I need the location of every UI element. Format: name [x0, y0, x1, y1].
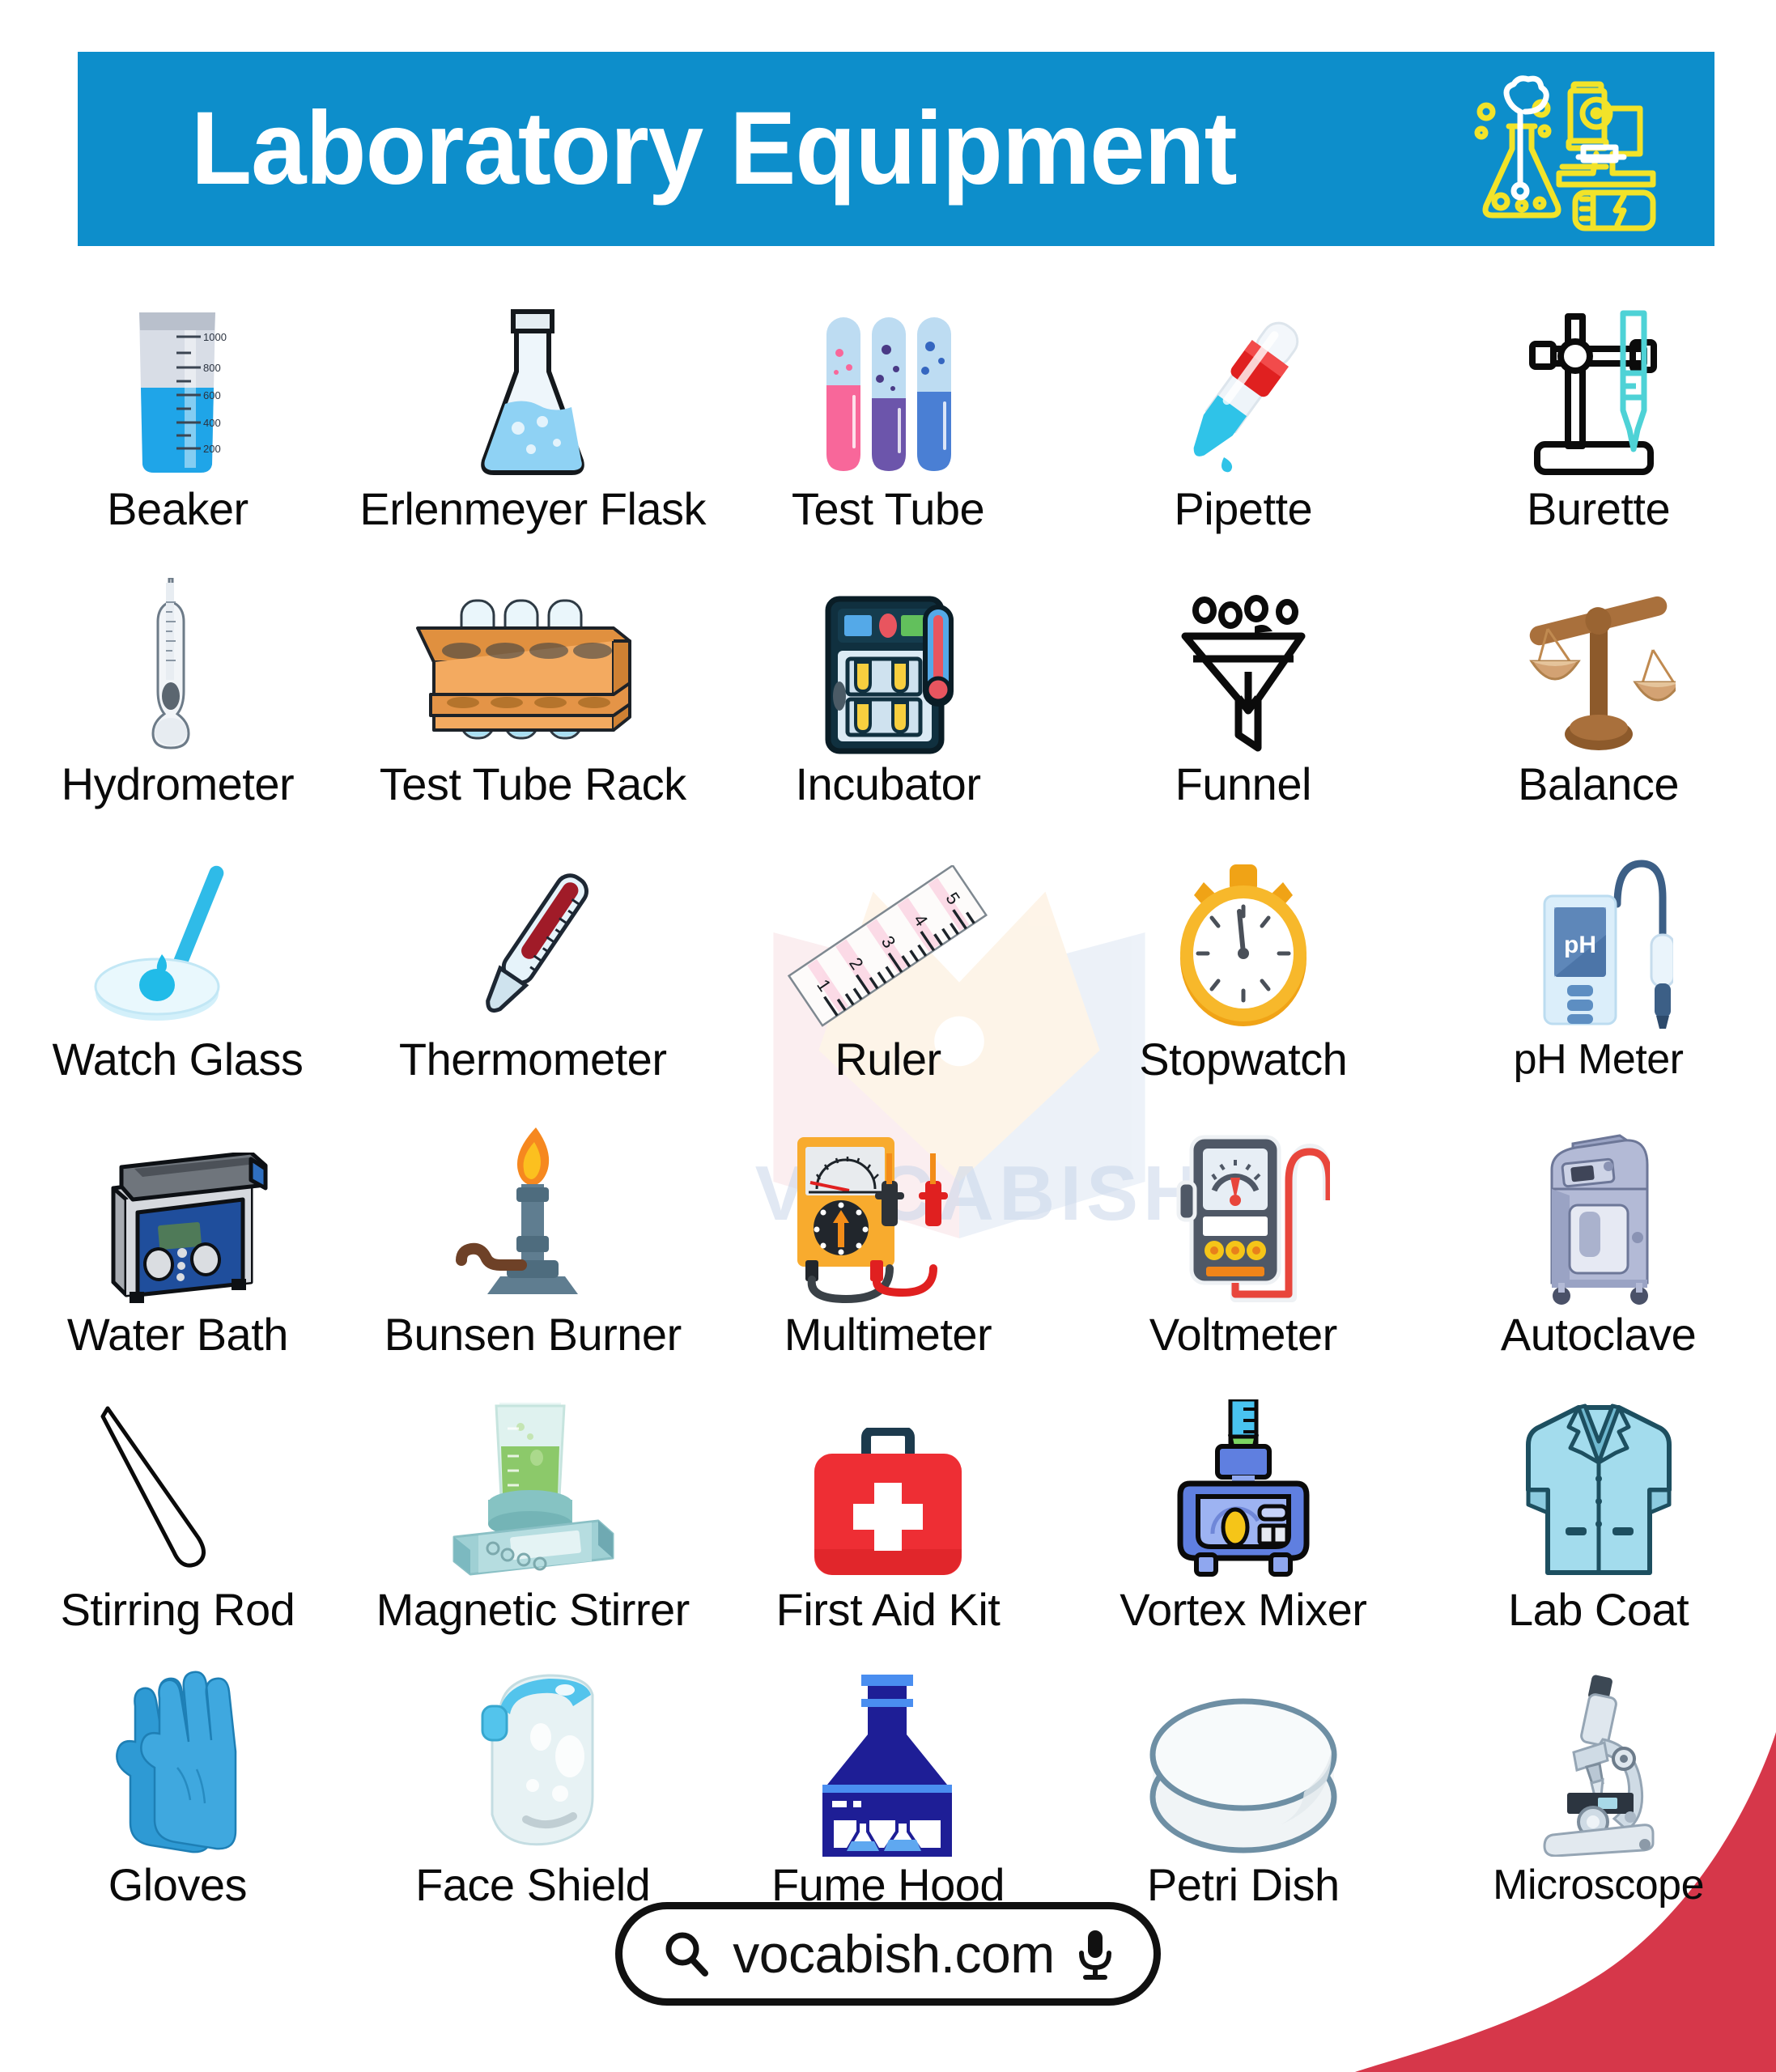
grid-item-voltmeter[interactable]: Voltmeter	[1065, 1085, 1421, 1360]
item-label: Test Tube Rack	[380, 759, 686, 809]
item-label: Vortex Mixer	[1120, 1585, 1366, 1635]
stopwatch-icon	[1065, 845, 1421, 1031]
pipette-icon	[1065, 295, 1421, 481]
item-label: Watch Glass	[52, 1034, 303, 1085]
grid-item-stopwatch[interactable]: Stopwatch	[1065, 809, 1421, 1085]
grid-item-funnel[interactable]: Funnel	[1065, 534, 1421, 809]
first-aid-kit-icon	[711, 1395, 1066, 1582]
item-label: Pipette	[1174, 484, 1312, 534]
page-header: Laboratory Equipment	[78, 52, 1714, 246]
grid-item-fume-hood[interactable]: Fume Hood	[711, 1635, 1066, 1910]
flask-microscope-icon	[1473, 70, 1676, 231]
grid-item-incubator[interactable]: Incubator	[711, 534, 1066, 809]
grid-item-pipette[interactable]: Pipette	[1065, 259, 1421, 534]
svg-text:200: 200	[203, 443, 221, 455]
grid-item-petri-dish[interactable]: Petri Dish	[1065, 1635, 1421, 1910]
item-label: Thermometer	[399, 1034, 667, 1085]
hydrometer-icon	[0, 570, 355, 756]
beaker-icon: 1000800 600400200	[0, 295, 355, 481]
microphone-icon[interactable]	[1076, 1927, 1115, 1981]
item-label: Magnetic Stirrer	[376, 1585, 690, 1635]
grid-item-thermometer[interactable]: Thermometer	[355, 809, 711, 1085]
watch-glass-icon	[0, 845, 355, 1031]
svg-text:400: 400	[203, 417, 221, 429]
microscope-icon	[1421, 1671, 1776, 1857]
item-label: pH Meter	[1514, 1034, 1684, 1085]
lab-coat-icon	[1421, 1395, 1776, 1582]
grid-item-bunsen-burner[interactable]: Bunsen Burner	[355, 1085, 711, 1360]
item-label: Stopwatch	[1139, 1034, 1347, 1085]
funnel-icon	[1065, 570, 1421, 756]
grid-item-stirring-rod[interactable]: Stirring Rod	[0, 1360, 355, 1635]
item-label: Water Bath	[67, 1310, 288, 1360]
item-label: Beaker	[107, 484, 248, 534]
grid-item-gloves[interactable]: Gloves	[0, 1635, 355, 1910]
autoclave-icon	[1421, 1120, 1776, 1306]
item-label: Test Tube	[792, 484, 984, 534]
grid-item-first-aid-kit[interactable]: First Aid Kit	[711, 1360, 1066, 1635]
erlenmeyer-flask-icon	[355, 295, 711, 481]
footer: vocabish.com	[0, 1902, 1776, 2006]
balance-icon	[1421, 570, 1776, 756]
test-tube-icon	[711, 295, 1066, 481]
item-label: Funnel	[1175, 759, 1311, 809]
ruler-icon: 1 2 3 4 5	[711, 845, 1066, 1031]
item-label: Hydrometer	[62, 759, 295, 809]
grid-item-test-tube-rack[interactable]: Test Tube Rack	[355, 534, 711, 809]
grid-item-ph-meter[interactable]: pH pH Meter	[1421, 809, 1776, 1085]
item-label: Ruler	[835, 1034, 941, 1085]
grid-item-ruler[interactable]: 1 2 3 4 5 Ruler	[711, 809, 1066, 1085]
magnetic-stirrer-icon	[355, 1395, 711, 1582]
test-tube-rack-icon	[355, 570, 711, 756]
grid-item-watch-glass[interactable]: Watch Glass	[0, 809, 355, 1085]
svg-text:600: 600	[203, 389, 221, 401]
item-label: Incubator	[795, 759, 980, 809]
multimeter-icon	[711, 1120, 1066, 1306]
item-label: First Aid Kit	[776, 1585, 1001, 1635]
svg-text:800: 800	[203, 362, 221, 374]
item-label: Voltmeter	[1149, 1310, 1337, 1360]
bunsen-burner-icon	[355, 1120, 711, 1306]
item-label: Erlenmeyer Flask	[359, 484, 706, 534]
equipment-grid: 1000800 600400200 Beaker Erlenmeyer Flas…	[0, 259, 1776, 1910]
grid-item-magnetic-stirrer[interactable]: Magnetic Stirrer	[355, 1360, 711, 1635]
svg-text:1000: 1000	[203, 331, 227, 343]
petri-dish-icon	[1065, 1671, 1421, 1857]
grid-item-erlenmeyer-flask[interactable]: Erlenmeyer Flask	[355, 259, 711, 534]
search-text[interactable]: vocabish.com	[733, 1923, 1055, 1985]
ph-meter-icon: pH	[1421, 845, 1776, 1031]
item-label: Burette	[1527, 484, 1670, 534]
item-label: Autoclave	[1501, 1310, 1696, 1360]
gloves-icon	[0, 1671, 355, 1857]
search-icon[interactable]	[661, 1929, 712, 1979]
grid-item-water-bath[interactable]: Water Bath	[0, 1085, 355, 1360]
fume-hood-icon	[711, 1671, 1066, 1857]
burette-icon	[1421, 295, 1776, 481]
stirring-rod-icon	[0, 1395, 355, 1582]
page-title: Laboratory Equipment	[191, 92, 1237, 206]
item-label: Multimeter	[784, 1310, 992, 1360]
item-label: Bunsen Burner	[385, 1310, 682, 1360]
grid-item-vortex-mixer[interactable]: Vortex Mixer	[1065, 1360, 1421, 1635]
grid-item-multimeter[interactable]: Multimeter	[711, 1085, 1066, 1360]
ph-screen-text: pH	[1564, 932, 1596, 958]
item-label: Stirring Rod	[61, 1585, 295, 1635]
thermometer-icon	[355, 845, 711, 1031]
grid-item-test-tube[interactable]: Test Tube	[711, 259, 1066, 534]
search-bar[interactable]: vocabish.com	[615, 1902, 1161, 2006]
grid-item-hydrometer[interactable]: Hydrometer	[0, 534, 355, 809]
voltmeter-icon	[1065, 1120, 1421, 1306]
grid-item-autoclave[interactable]: Autoclave	[1421, 1085, 1776, 1360]
item-label: Balance	[1518, 759, 1679, 809]
grid-item-lab-coat[interactable]: Lab Coat	[1421, 1360, 1776, 1635]
item-label: Lab Coat	[1508, 1585, 1689, 1635]
grid-item-balance[interactable]: Balance	[1421, 534, 1776, 809]
grid-item-face-shield[interactable]: Face Shield	[355, 1635, 711, 1910]
water-bath-icon	[0, 1120, 355, 1306]
incubator-icon	[711, 570, 1066, 756]
vortex-mixer-icon	[1065, 1395, 1421, 1582]
grid-item-burette[interactable]: Burette	[1421, 259, 1776, 534]
face-shield-icon	[355, 1671, 711, 1857]
grid-item-microscope[interactable]: Microscope	[1421, 1635, 1776, 1910]
grid-item-beaker[interactable]: 1000800 600400200 Beaker	[0, 259, 355, 534]
